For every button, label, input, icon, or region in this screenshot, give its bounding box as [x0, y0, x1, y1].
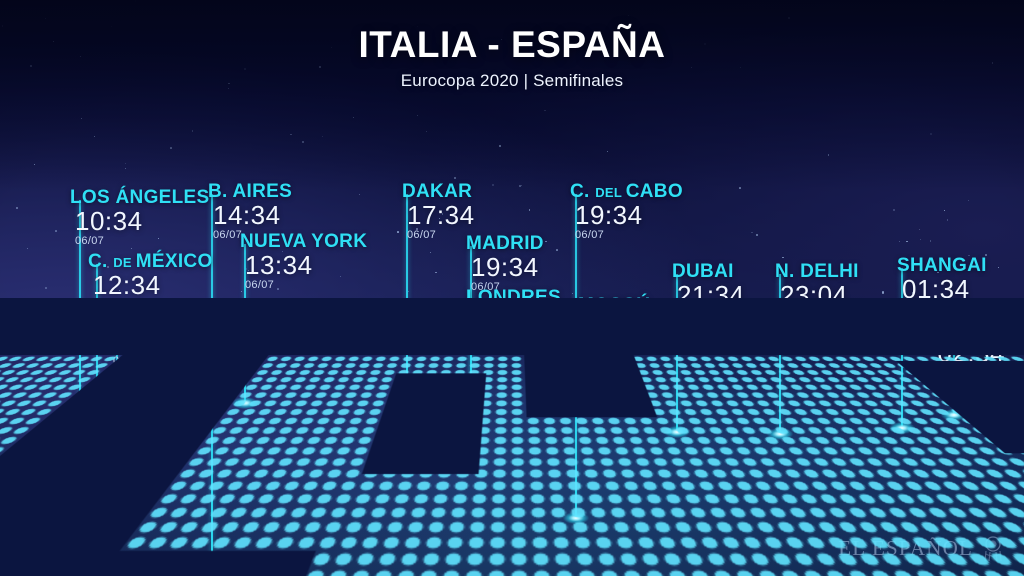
- city-node-glow: [232, 397, 258, 409]
- city-date: 06/07: [780, 310, 859, 321]
- city-node-glow: [458, 383, 484, 395]
- city-date: 06/07: [113, 356, 193, 367]
- city-time: 18:34: [471, 307, 561, 335]
- lion-icon: [980, 534, 1006, 562]
- page-title: ITALIA - ESPAÑA: [0, 26, 1024, 65]
- city-node-glow: [889, 422, 915, 434]
- city-time: 19:34: [575, 201, 683, 229]
- city-node-glow: [104, 494, 130, 506]
- city-name-connector: DEL: [595, 185, 626, 200]
- brand-logo: EL ESPAÑOL: [838, 534, 1006, 562]
- city-name: LONDRES: [466, 288, 561, 307]
- city-label: MADRID19:3406/07: [466, 234, 544, 293]
- city-date: 06/07: [407, 230, 475, 241]
- city-node-glow: [664, 426, 690, 438]
- city-name: MADRID: [466, 234, 544, 253]
- city-label: MOSCÚ20:3406/07: [578, 296, 651, 355]
- page-subtitle: Eurocopa 2020 | Semifinales: [0, 71, 1024, 91]
- city-node-glow: [394, 431, 420, 443]
- city-time: 10:34: [75, 207, 209, 235]
- city-time: 20:34: [583, 315, 651, 343]
- city-node-glow: [941, 409, 967, 421]
- city-name: C. DE MÉXICO: [88, 252, 213, 271]
- city-time: 21:34: [677, 281, 745, 309]
- city-time: 01:34: [902, 275, 987, 303]
- city-node-glow: [563, 512, 589, 524]
- city-name: C. DEL CABO: [570, 182, 683, 201]
- city-name: SHANGAI: [897, 256, 987, 275]
- city-label: NUEVA YORK13:3406/07: [240, 232, 367, 291]
- city-node-glow: [84, 459, 110, 471]
- city-label: C. DE MÉXICO12:3406/07: [88, 252, 213, 311]
- city-beam: [575, 194, 577, 518]
- city-label: LONDRES18:3406/07: [466, 288, 561, 347]
- city-label: DAKAR17:3406/07: [402, 182, 475, 241]
- city-name: BOGOTÁ: [108, 308, 193, 327]
- city-label: N. DELHI23:0406/07: [775, 262, 859, 321]
- city-time: 12:34: [113, 327, 193, 355]
- city-name: DAKAR: [402, 182, 475, 201]
- infographic-canvas: ITALIA - ESPAÑA Eurocopa 2020 | Semifina…: [0, 0, 1024, 576]
- city-name: LOS ÁNGELES: [70, 188, 209, 207]
- city-date: 07/07: [937, 368, 1005, 379]
- city-time: 12:34: [93, 271, 213, 299]
- city-label: SHANGAI01:3407/07: [897, 256, 987, 315]
- city-name: NUEVA YORK: [240, 232, 367, 251]
- city-label: BOGOTÁ12:3406/07: [108, 308, 193, 367]
- city-label: DUBAI21:3406/07: [672, 262, 745, 321]
- brand-name: EL ESPAÑOL: [838, 536, 973, 561]
- city-label: LOS ÁNGELES10:3406/07: [70, 188, 209, 247]
- city-name: TOKIO: [937, 320, 1010, 339]
- city-date: 06/07: [471, 336, 561, 347]
- city-name: DUBAI: [672, 262, 745, 281]
- city-time: 14:34: [213, 201, 292, 229]
- city-time: 13:34: [245, 251, 367, 279]
- city-name-connector: DE: [113, 255, 136, 270]
- city-node-glow: [571, 390, 597, 402]
- city-date: 06/07: [677, 310, 745, 321]
- city-date: 06/07: [245, 280, 367, 291]
- city-name: B. AIRES: [208, 182, 292, 201]
- city-date: 07/07: [902, 304, 987, 315]
- city-node-glow: [67, 404, 93, 416]
- city-node-glow: [767, 428, 793, 440]
- city-label: C. DEL CABO19:3406/07: [570, 182, 683, 241]
- city-date: 06/07: [575, 230, 683, 241]
- city-name: N. DELHI: [775, 262, 859, 281]
- header: ITALIA - ESPAÑA Eurocopa 2020 | Semifina…: [0, 26, 1024, 91]
- city-time: 19:34: [471, 253, 544, 281]
- city-node-glow: [458, 402, 484, 414]
- city-time: 23:04: [780, 281, 859, 309]
- city-node-glow: [199, 566, 225, 576]
- city-time: 17:34: [407, 201, 475, 229]
- city-date: 06/07: [75, 236, 209, 247]
- city-name: MOSCÚ: [578, 296, 651, 315]
- city-label: TOKIO02:3407/07: [937, 320, 1010, 379]
- city-time: 02:34: [937, 339, 1005, 367]
- city-date: 06/07: [583, 344, 651, 355]
